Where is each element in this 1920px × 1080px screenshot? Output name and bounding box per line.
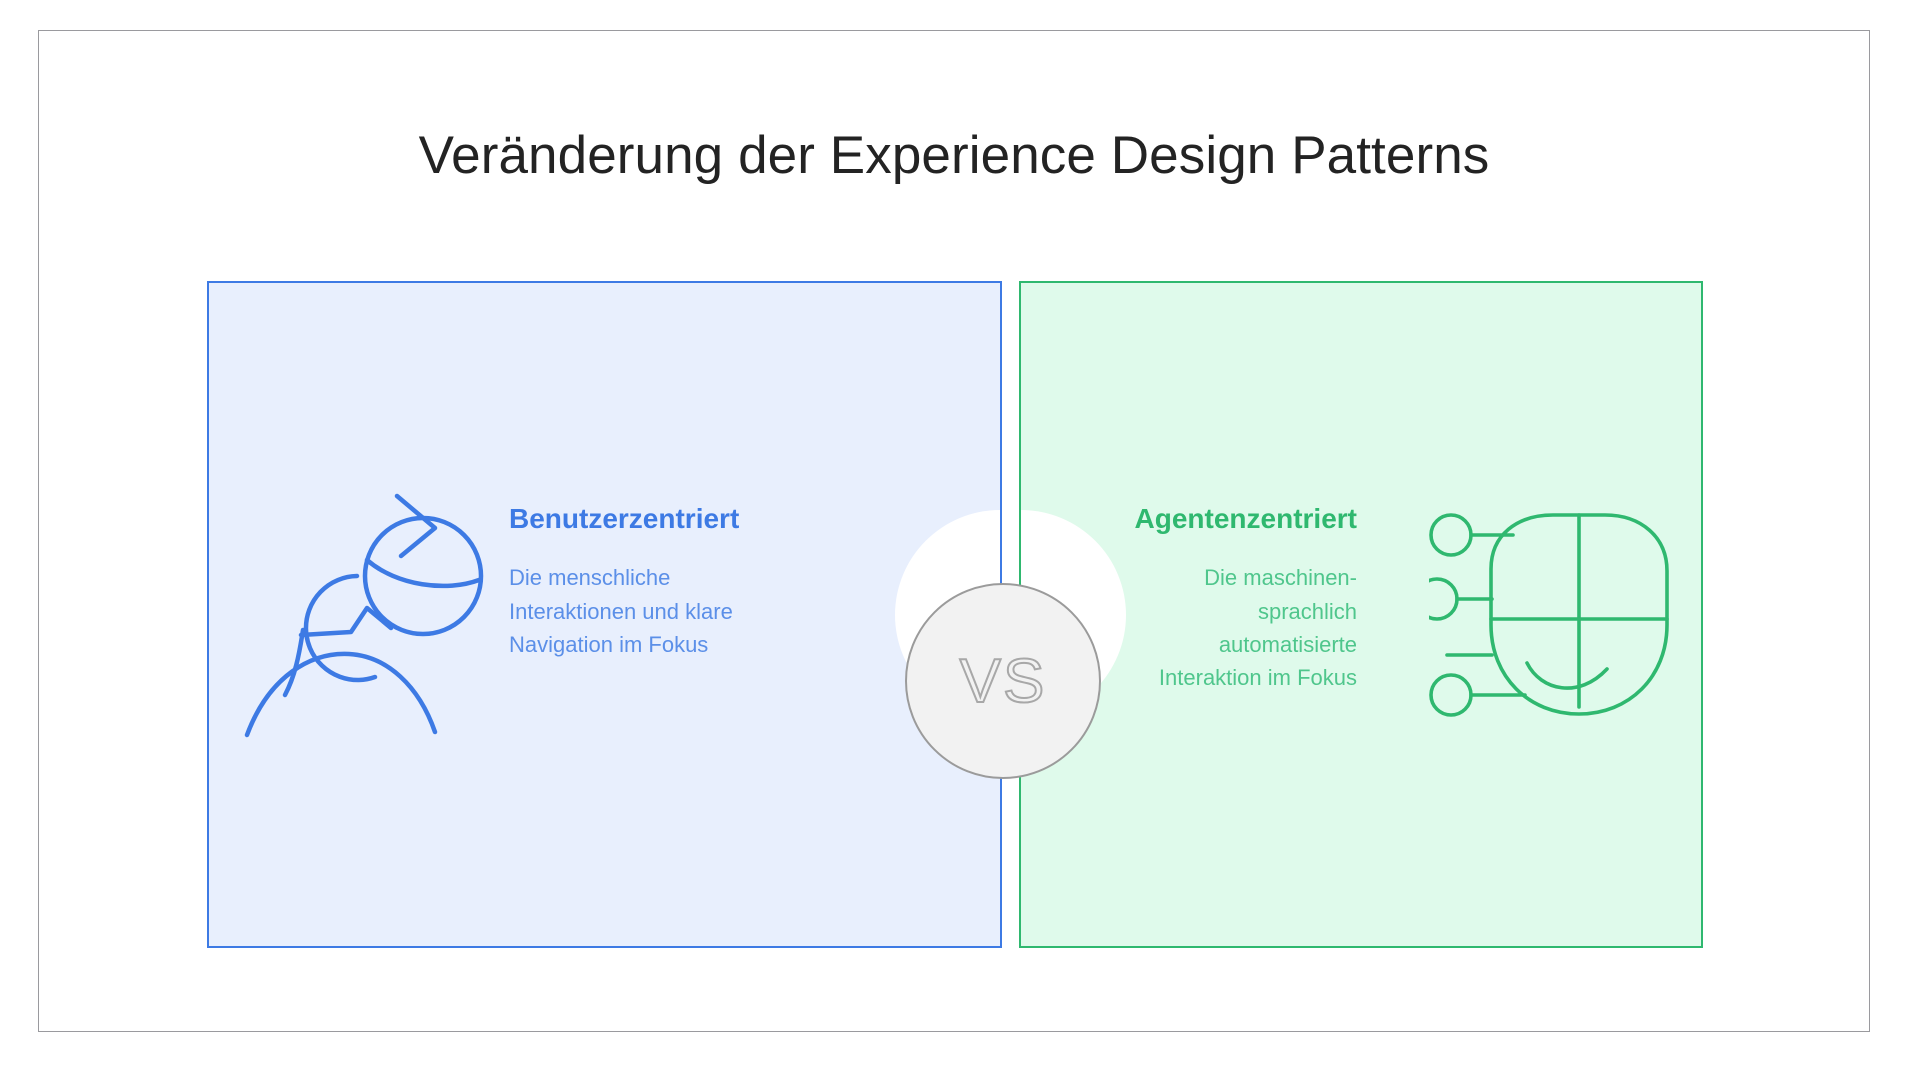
agent-robot-icon — [1429, 507, 1677, 727]
comparison-stage: Benutzerzentriert Die menschliche Intera… — [207, 250, 1703, 917]
user-sketch-icon — [239, 480, 489, 755]
page-title: Veränderung der Experience Design Patter… — [39, 127, 1869, 185]
panel-agent-text: Agentenzentriert Die maschinen-sprachlic… — [1121, 502, 1357, 695]
panel-agent-heading: Agentenzentriert — [1121, 502, 1357, 536]
panel-user-body: Die menschliche Interaktionen und klare … — [509, 561, 741, 661]
panel-user-text: Benutzerzentriert Die menschliche Intera… — [509, 502, 741, 662]
panel-agent-centered[interactable]: Agentenzentriert Die maschinen-sprachlic… — [1019, 281, 1703, 948]
slide-frame: Veränderung der Experience Design Patter… — [38, 30, 1870, 1032]
vs-label: VS — [907, 585, 1099, 777]
vs-badge: VS — [905, 583, 1101, 779]
panel-agent-body: Die maschinen-sprachlich automatisierte … — [1121, 561, 1357, 695]
panel-user-centered[interactable]: Benutzerzentriert Die menschliche Intera… — [207, 281, 1002, 948]
panel-user-heading: Benutzerzentriert — [509, 502, 741, 536]
